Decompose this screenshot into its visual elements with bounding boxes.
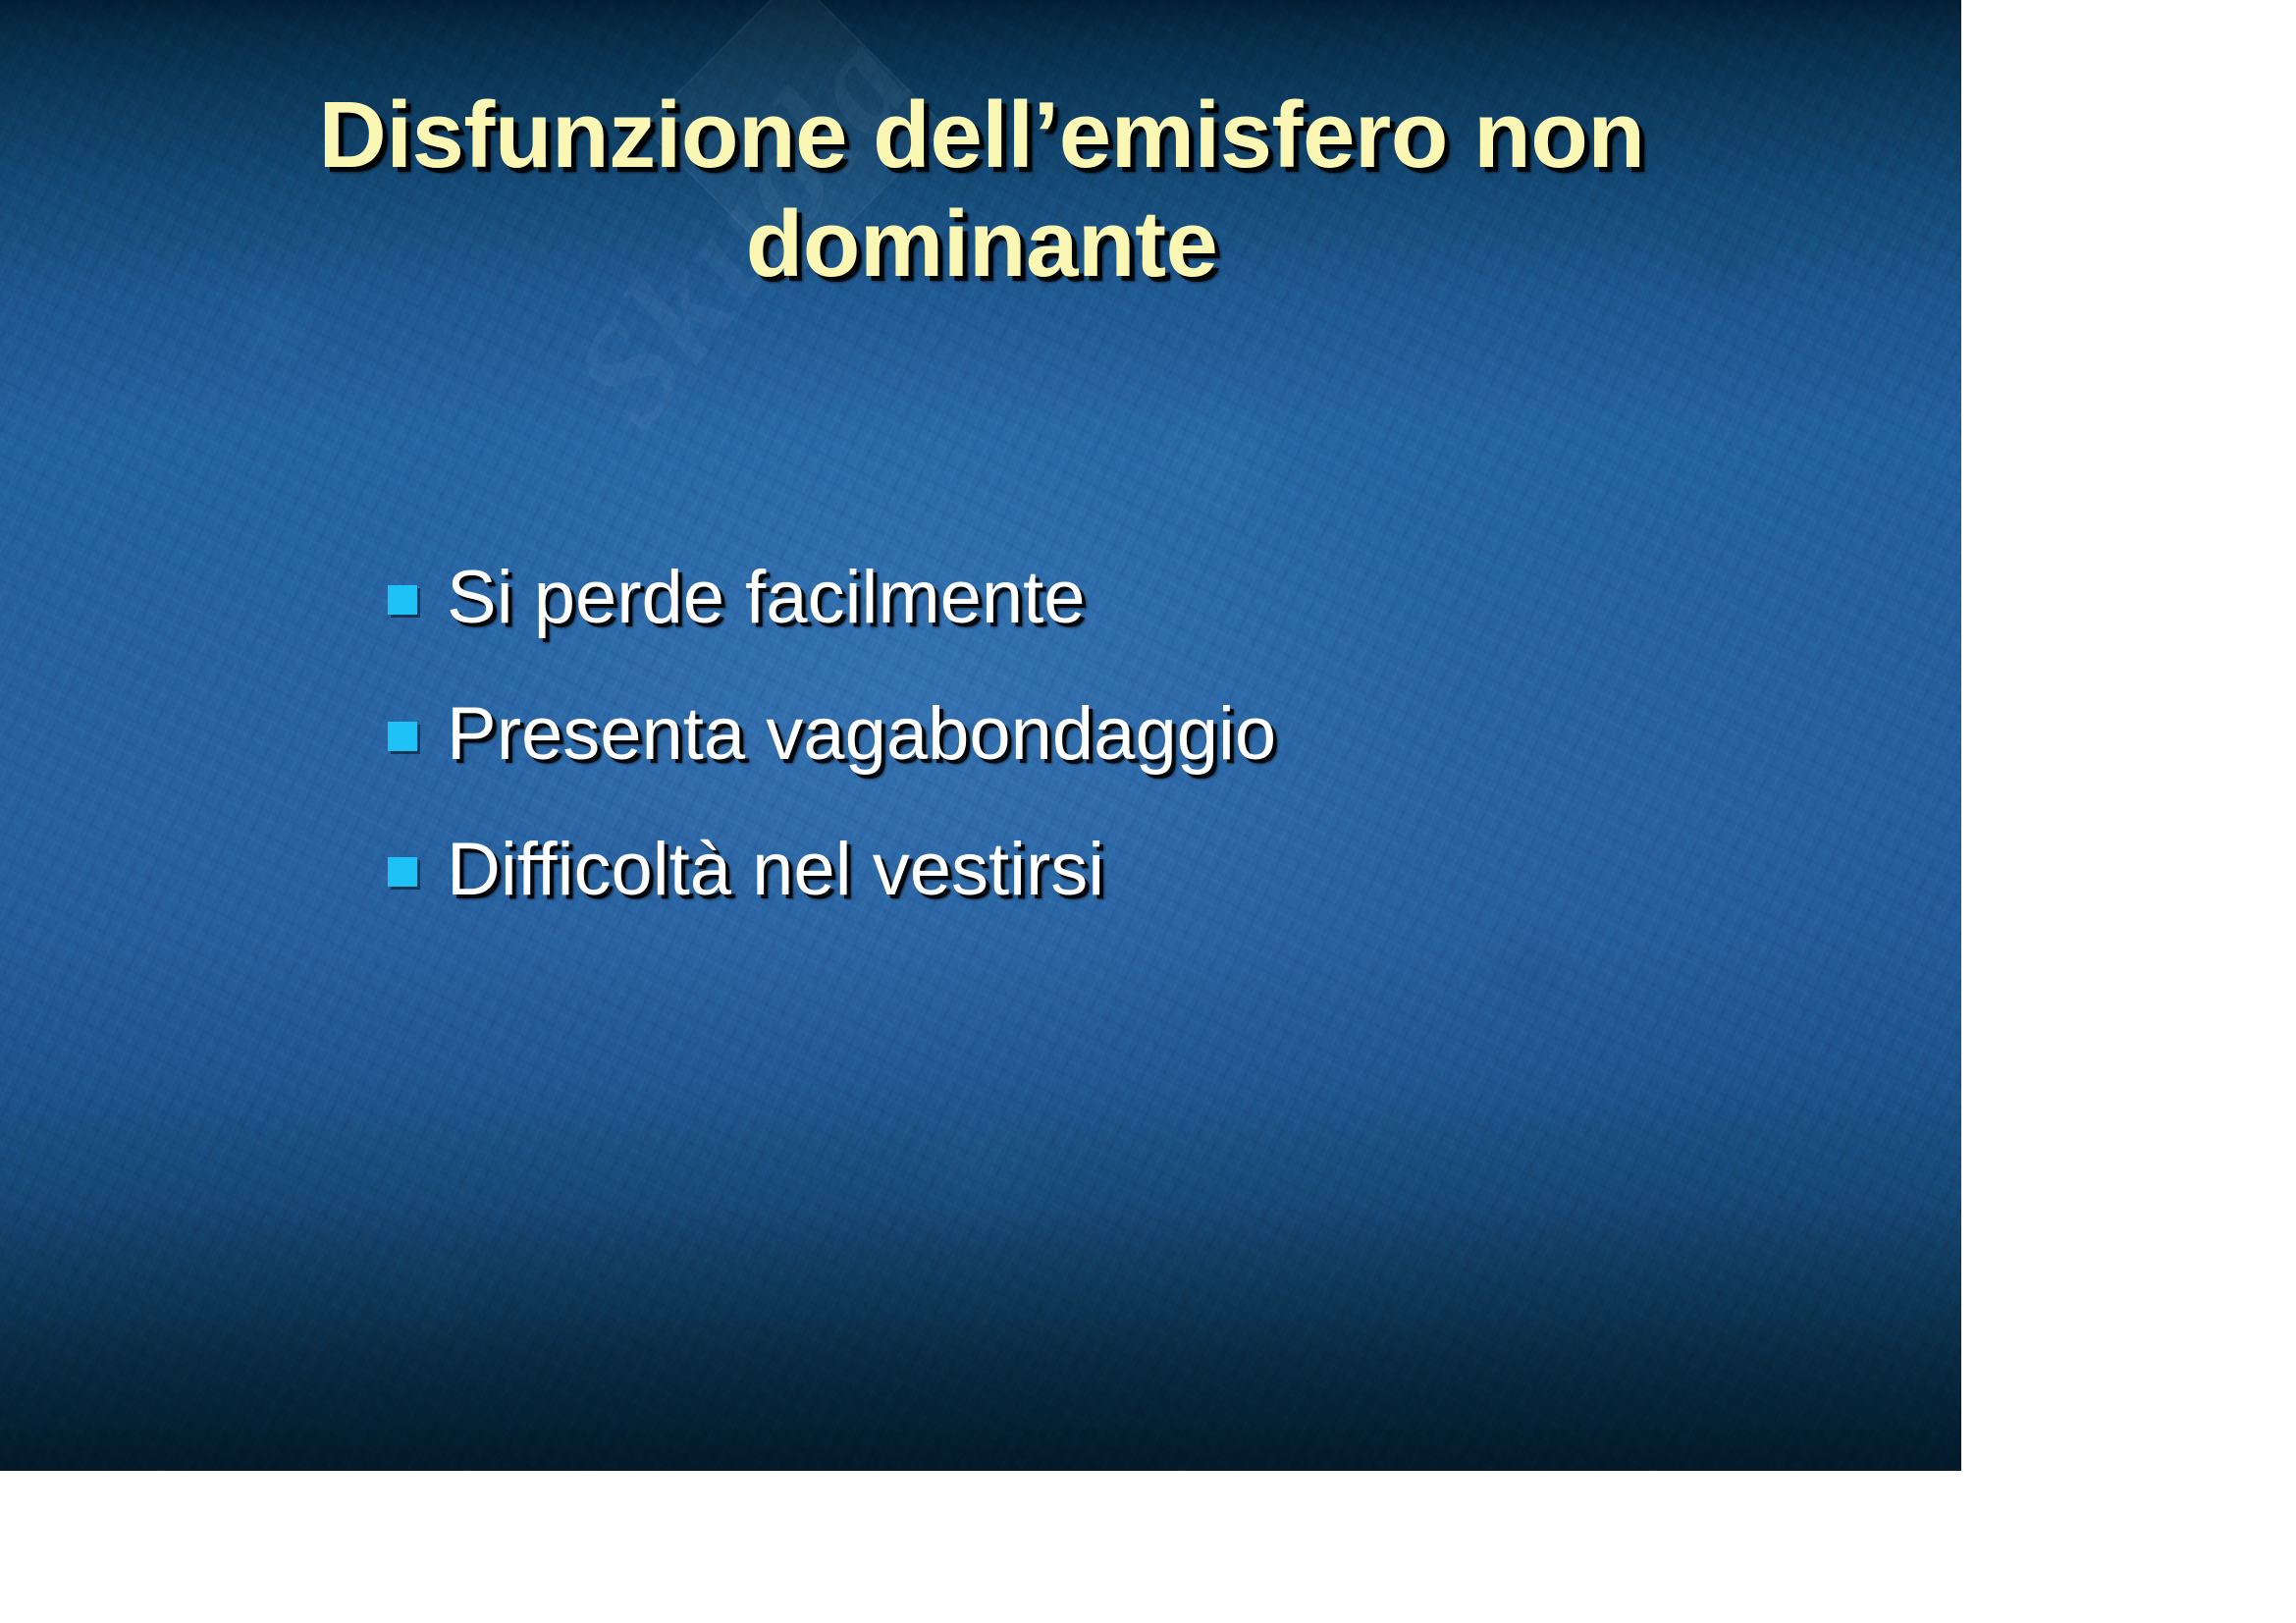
list-item: Difficoltà nel vestirsi (388, 828, 1762, 913)
bullet-list: Si perde facilmente Presenta vagabondagg… (388, 556, 1762, 913)
square-bullet-icon (388, 722, 417, 751)
list-item-label: Si perde facilmente (447, 556, 1762, 641)
list-item-label: Presenta vagabondaggio (447, 692, 1762, 778)
presentation-slide: Skuola Disfunzione dell’emisfero non dom… (0, 0, 1961, 1471)
slide-page: Skuola Disfunzione dell’emisfero non dom… (0, 0, 2296, 1623)
list-item: Presenta vagabondaggio (388, 692, 1762, 778)
slide-title: Disfunzione dell’emisfero non dominante (98, 81, 1865, 299)
list-item-label: Difficoltà nel vestirsi (447, 828, 1762, 913)
list-item: Si perde facilmente (388, 556, 1762, 641)
square-bullet-icon (388, 857, 417, 887)
square-bullet-icon (388, 585, 417, 615)
